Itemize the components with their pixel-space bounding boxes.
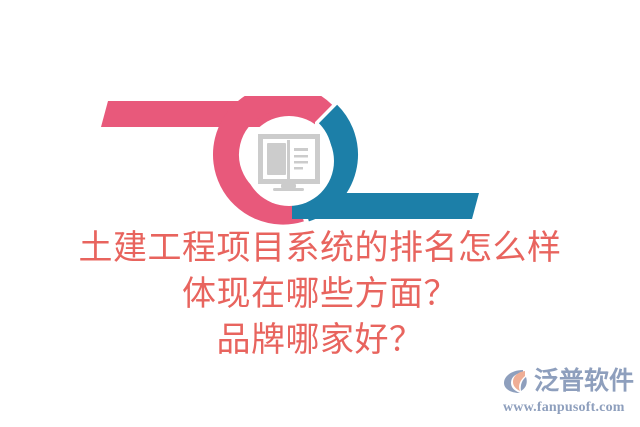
- page-title: 土建工程项目系统的排名怎么样 体现在哪些方面？ 品牌哪家好？: [0, 226, 640, 364]
- fanpu-swoosh-icon: [502, 367, 532, 395]
- watermark-url-label: www.fanpusoft.com: [503, 399, 636, 416]
- logo-blue-bar: [292, 193, 479, 219]
- headline-line-3: 品牌哪家好？: [0, 318, 640, 364]
- headline-line-2: 体现在哪些方面？: [0, 272, 640, 318]
- broken-ring-logo: [95, 96, 485, 226]
- watermark: 泛普软件 www.fanpusoft.com: [502, 364, 636, 418]
- watermark-brand-label: 泛普软件: [534, 367, 634, 395]
- poster-canvas: 土建工程项目系统的排名怎么样 体现在哪些方面？ 品牌哪家好？ 泛普软件 www.…: [0, 0, 640, 427]
- headline-line-1: 土建工程项目系统的排名怎么样: [0, 226, 640, 272]
- watermark-brand-row: 泛普软件: [502, 364, 636, 398]
